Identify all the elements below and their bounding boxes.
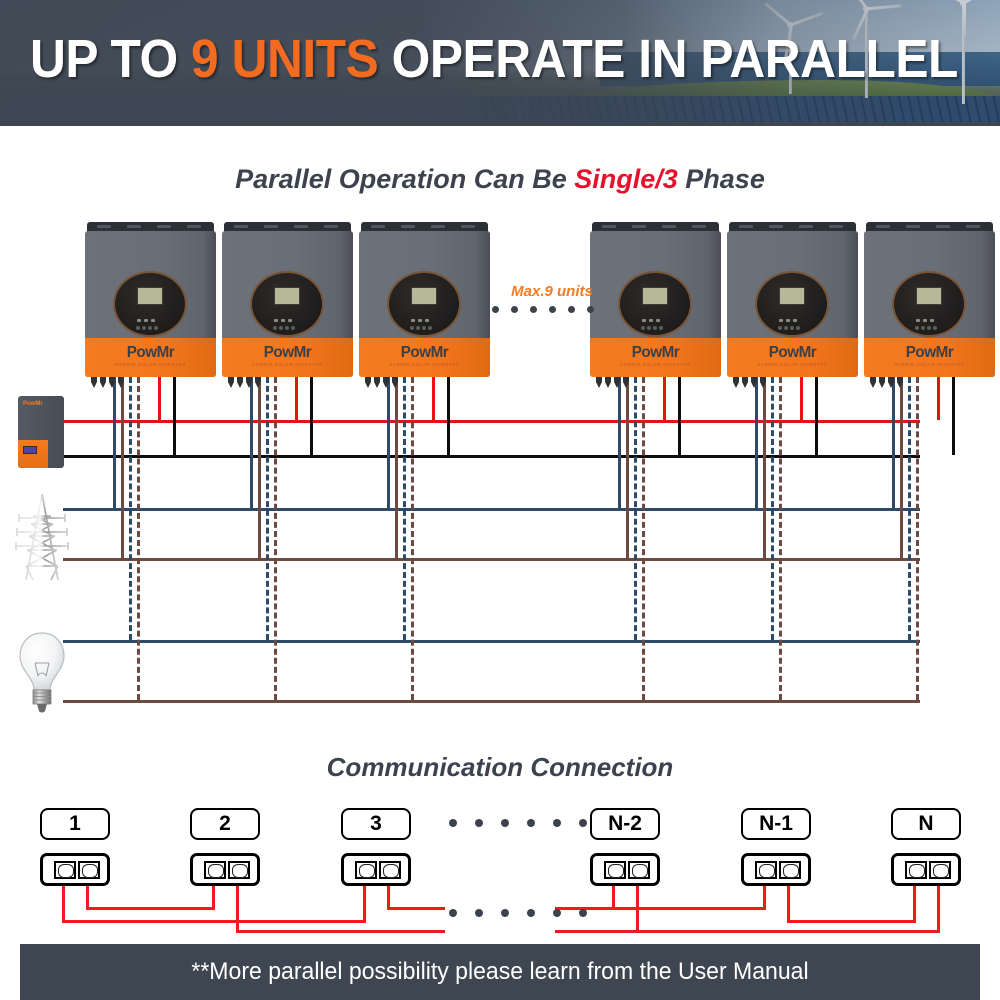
unit-orange-panel (18, 440, 48, 468)
wire-n2-to-gap (236, 930, 445, 933)
transmission-tower-icon (14, 492, 70, 582)
ellipsis-dot (449, 819, 457, 827)
brand-logo-text: PowMr (593, 344, 717, 362)
ellipsis-dot (501, 819, 509, 827)
brand-subtitle-text: HYBRID SOLAR INVERTER (590, 362, 721, 367)
parallel-section-title: Parallel Operation Can Be Single/3 Phase (0, 164, 1000, 195)
max-units-label: Max.9 units (492, 283, 612, 300)
ellipsis-dot (568, 306, 575, 313)
ellipsis-dot (475, 819, 483, 827)
lcd-screen (137, 287, 163, 305)
brand-band: PowMrHYBRID SOLAR INVERTER (864, 338, 995, 377)
wire-n-in-drop (913, 886, 916, 920)
comm-ellipsis-dots-top (449, 819, 587, 827)
comm-node-5: N-1 (741, 808, 811, 888)
comm-node-label: N-2 (590, 808, 660, 840)
riser-load-line-riser-u4 (634, 377, 637, 640)
riser-load-neutral-riser-u2 (274, 377, 277, 700)
inverter-unit-5: PowMrHYBRID SOLAR INVERTER (727, 222, 858, 377)
ellipsis-dot (530, 306, 537, 313)
terminal-connectors (228, 377, 288, 389)
ellipsis-dot (553, 819, 561, 827)
rj45-jack-out[interactable] (379, 861, 401, 879)
comm-port-block (190, 853, 260, 886)
unit-brand-label: PowMr (23, 401, 43, 407)
rj45-jack-out[interactable] (628, 861, 650, 879)
riser-grid-line-riser-u6 (892, 377, 895, 508)
comm-node-label: 1 (40, 808, 110, 840)
ellipsis-dot (579, 909, 587, 917)
riser-pv-positive-riser-u3 (432, 377, 435, 420)
riser-pv-negative-riser-u4 (678, 377, 681, 455)
control-buttons[interactable] (410, 317, 438, 335)
riser-grid-line-riser-u5 (755, 377, 758, 508)
wire-n3-to-gap (387, 907, 445, 910)
rj45-jack-in[interactable] (54, 861, 76, 879)
lcd-screen (411, 287, 437, 305)
comm-node-label: N (891, 808, 961, 840)
comm-node-label: 3 (341, 808, 411, 840)
brand-subtitle-text: HYBRID SOLAR INVERTER (727, 362, 858, 367)
comm-port-block (891, 853, 961, 886)
lcd-screen (779, 287, 805, 305)
riser-pv-negative-riser-u5 (815, 377, 818, 455)
brand-logo-text: PowMr (225, 344, 349, 362)
ellipsis-dot (475, 909, 483, 917)
riser-grid-neutral-riser-u6 (900, 377, 903, 558)
ellipsis-dot (511, 306, 518, 313)
riser-load-neutral-riser-u1 (137, 377, 140, 700)
control-buttons[interactable] (915, 317, 943, 335)
riser-load-line-riser-u1 (129, 377, 132, 640)
terminal-connectors (596, 377, 656, 389)
solar-battery-unit-icon: PowMr (18, 396, 64, 468)
wire-nm1-to-n (787, 920, 916, 923)
wire-n1-to-n3 (62, 920, 366, 923)
brand-subtitle-text: HYBRID SOLAR INVERTER (864, 362, 995, 367)
bus-grid-line (63, 508, 920, 511)
riser-grid-line-riser-u3 (387, 377, 390, 508)
inverter-display (755, 271, 829, 337)
comm-node-4: N-2 (590, 808, 660, 888)
riser-load-line-riser-u3 (403, 377, 406, 640)
header-banner: UP TO 9 UNITS OPERATE IN PARALLEL (0, 0, 1000, 126)
comm-node-label: 2 (190, 808, 260, 840)
control-buttons[interactable] (136, 317, 164, 335)
ellipsis-dot (527, 909, 535, 917)
rj45-jack-in[interactable] (905, 861, 927, 879)
footer-note: **More parallel possibility please learn… (20, 944, 980, 1000)
bus-load-neutral (63, 700, 920, 703)
rj45-jack-in[interactable] (204, 861, 226, 879)
communication-section-title: Communication Connection (0, 752, 1000, 783)
wire-gap-to-nm2-out (555, 930, 639, 933)
control-buttons[interactable] (273, 317, 301, 335)
riser-pv-negative-riser-u3 (447, 377, 450, 455)
control-buttons[interactable] (641, 317, 669, 335)
riser-grid-neutral-riser-u1 (121, 377, 124, 558)
light-bulb-load-icon (18, 630, 66, 714)
rj45-jack-in[interactable] (755, 861, 777, 879)
banner-title-post: OPERATE IN PARALLEL (378, 29, 958, 89)
wire-n1-to-n2 (86, 907, 215, 910)
brand-band: PowMrHYBRID SOLAR INVERTER (359, 338, 490, 377)
inverter-display (892, 271, 966, 337)
brand-logo-text: PowMr (362, 344, 486, 362)
parallel-title-highlight: Single/3 (574, 164, 678, 194)
brand-subtitle-text: HYBRID SOLAR INVERTER (222, 362, 353, 367)
bus-load-line (63, 640, 920, 643)
riser-load-line-riser-u5 (771, 377, 774, 640)
wire-n1-out-drop (86, 886, 89, 907)
lcd-screen (642, 287, 668, 305)
riser-grid-neutral-riser-u2 (258, 377, 261, 558)
wire-n3-out-drop (387, 886, 390, 907)
terminal-connectors (870, 377, 930, 389)
comm-node-label: N-1 (741, 808, 811, 840)
brand-logo-text: PowMr (867, 344, 991, 362)
brand-band: PowMrHYBRID SOLAR INVERTER (85, 338, 216, 377)
wire-n2-out-drop (236, 886, 239, 930)
riser-pv-positive-riser-u4 (663, 377, 666, 420)
rj45-jack-out[interactable] (78, 861, 100, 879)
bus-pv-negative (63, 455, 920, 458)
ellipsis-dot (587, 306, 594, 313)
brand-band: PowMrHYBRID SOLAR INVERTER (590, 338, 721, 377)
wire-nm1-out-drop (787, 886, 790, 920)
riser-load-neutral-riser-u3 (411, 377, 414, 700)
brand-logo-text: PowMr (730, 344, 854, 362)
inverter-display (387, 271, 461, 337)
inverter-unit-1: PowMrHYBRID SOLAR INVERTER (85, 222, 216, 377)
riser-load-neutral-riser-u6 (916, 377, 919, 700)
control-buttons[interactable] (778, 317, 806, 335)
brand-logo-text: PowMr (88, 344, 212, 362)
brand-band: PowMrHYBRID SOLAR INVERTER (727, 338, 858, 377)
rj45-jack-out[interactable] (228, 861, 250, 879)
wire-n1-in-drop (62, 886, 65, 920)
riser-pv-positive-riser-u5 (800, 377, 803, 420)
brand-subtitle-text: HYBRID SOLAR INVERTER (359, 362, 490, 367)
ellipsis-dot (549, 306, 556, 313)
infographic-page: UP TO 9 UNITS OPERATE IN PARALLEL Parall… (0, 0, 1000, 1000)
parallel-title-pre: Parallel Operation Can Be (235, 164, 574, 194)
brand-subtitle-text: HYBRID SOLAR INVERTER (85, 362, 216, 367)
riser-grid-neutral-riser-u5 (763, 377, 766, 558)
riser-grid-line-riser-u2 (250, 377, 253, 508)
comm-port-block (341, 853, 411, 886)
comm-port-block (40, 853, 110, 886)
inverter-display (618, 271, 692, 337)
riser-grid-neutral-riser-u4 (626, 377, 629, 558)
inverter-unit-2: PowMrHYBRID SOLAR INVERTER (222, 222, 353, 377)
bus-grid-neutral (63, 558, 920, 561)
riser-pv-negative-riser-u1 (173, 377, 176, 455)
banner-bottom-rule (0, 122, 1000, 126)
rj45-jack-in[interactable] (355, 861, 377, 879)
wire-n3-in-drop (363, 886, 366, 920)
ellipsis-dot (579, 819, 587, 827)
riser-pv-negative-riser-u2 (310, 377, 313, 455)
comm-node-3: 3 (341, 808, 411, 888)
lcd-screen (274, 287, 300, 305)
wire-n-out-drop (937, 886, 940, 930)
terminal-connectors (733, 377, 793, 389)
ellipsis-dot (553, 909, 561, 917)
rj45-jack-out[interactable] (929, 861, 951, 879)
comm-node-2: 2 (190, 808, 260, 888)
ellipsis-dot (492, 306, 499, 313)
riser-load-neutral-riser-u5 (779, 377, 782, 700)
riser-pv-positive-riser-u6 (937, 377, 940, 420)
inverter-display (250, 271, 324, 337)
riser-grid-line-riser-u1 (113, 377, 116, 508)
wire-n-to-nm2 (636, 930, 940, 933)
rj45-jack-in[interactable] (604, 861, 626, 879)
unit-chip (23, 446, 37, 454)
wire-nm2-in-drop (612, 886, 615, 907)
wire-nm2-to-nm1 (612, 907, 766, 910)
ellipsis-dot (527, 819, 535, 827)
riser-load-line-riser-u6 (908, 377, 911, 640)
rj45-jack-out[interactable] (779, 861, 801, 879)
comm-node-6: N (891, 808, 961, 888)
comm-port-block (590, 853, 660, 886)
riser-grid-neutral-riser-u3 (395, 377, 398, 558)
bus-pv-positive (63, 420, 920, 423)
riser-pv-positive-riser-u1 (158, 377, 161, 420)
banner-title-pre: UP TO (30, 29, 191, 89)
parallel-title-post: Phase (678, 164, 765, 194)
riser-load-neutral-riser-u4 (642, 377, 645, 700)
riser-pv-positive-riser-u2 (295, 377, 298, 420)
inverter-unit-3: PowMrHYBRID SOLAR INVERTER (359, 222, 490, 377)
banner-title-highlight: 9 UNITS (191, 29, 378, 89)
brand-band: PowMrHYBRID SOLAR INVERTER (222, 338, 353, 377)
riser-grid-line-riser-u4 (618, 377, 621, 508)
comm-port-block (741, 853, 811, 886)
riser-load-line-riser-u2 (266, 377, 269, 640)
ellipsis-dot (501, 909, 509, 917)
terminal-connectors (365, 377, 425, 389)
inverter-display (113, 271, 187, 337)
inverter-unit-6: PowMrHYBRID SOLAR INVERTER (864, 222, 995, 377)
ellipsis-dot (449, 909, 457, 917)
comm-ellipsis-dots-bottom (449, 909, 587, 917)
wire-nm1-in-drop (763, 886, 766, 907)
riser-pv-negative-riser-u6 (952, 377, 955, 455)
comm-node-1: 1 (40, 808, 110, 888)
inverter-ellipsis-dots (492, 306, 594, 313)
lcd-screen (916, 287, 942, 305)
banner-title: UP TO 9 UNITS OPERATE IN PARALLEL (30, 28, 895, 90)
terminal-connectors (91, 377, 151, 389)
wire-n2-in-drop (212, 886, 215, 907)
